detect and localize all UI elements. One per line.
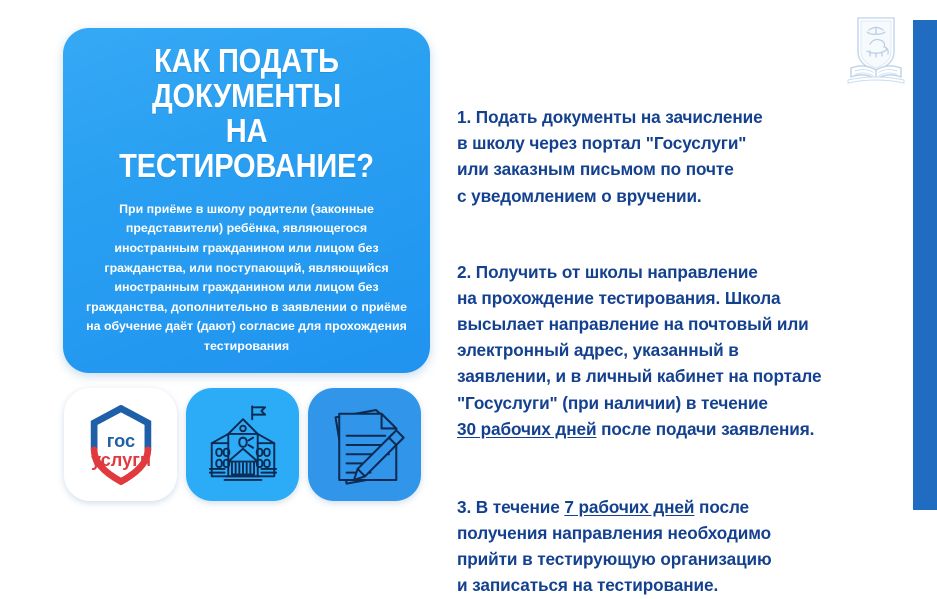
step-1-text: 1. Подать документы на зачисление в школ… xyxy=(457,107,763,205)
gosuslugi-label-bottom: услуги xyxy=(90,449,150,470)
step-2-text-pre: 2. Получить от школы направление на прох… xyxy=(457,262,821,413)
step-item-3: 3. В течение 7 рабочих дней после получе… xyxy=(457,468,907,599)
gosuslugi-logo-icon[interactable]: гос услуги xyxy=(64,388,177,501)
decorative-right-bar xyxy=(913,20,937,510)
step-3-underlined-term: 7 рабочих дней xyxy=(564,497,694,517)
document-pen-icon[interactable] xyxy=(308,388,421,501)
page-title-line-1: КАК ПОДАТЬ xyxy=(97,44,395,79)
step-2-underlined-term: 30 рабочих дней xyxy=(457,419,596,439)
step-3-text-pre: 3. В течение xyxy=(457,497,564,517)
icon-row: гос услуги xyxy=(64,388,434,506)
belgorod-coat-of-arms-icon xyxy=(845,14,907,86)
page-title-line-2: ДОКУМЕНТЫ xyxy=(97,79,395,114)
steps-list: 1. Подать документы на зачисление в школ… xyxy=(457,78,907,599)
page-title-line-3: НА ТЕСТИРОВАНИЕ? xyxy=(97,114,395,184)
step-item-2: 2. Получить от школы направление на прох… xyxy=(457,233,907,442)
step-item-1: 1. Подать документы на зачисление в школ… xyxy=(457,78,907,209)
info-card: КАК ПОДАТЬ ДОКУМЕНТЫ НА ТЕСТИРОВАНИЕ? Пр… xyxy=(63,28,430,373)
page-title: КАК ПОДАТЬ ДОКУМЕНТЫ НА ТЕСТИРОВАНИЕ? xyxy=(97,44,395,184)
card-body-text: При приёме в школу родители (законные пр… xyxy=(85,200,408,357)
gosuslugi-label-top: гос xyxy=(106,429,134,450)
step-2-text-post: после подачи заявления. xyxy=(596,419,814,439)
school-building-icon[interactable] xyxy=(186,388,299,501)
